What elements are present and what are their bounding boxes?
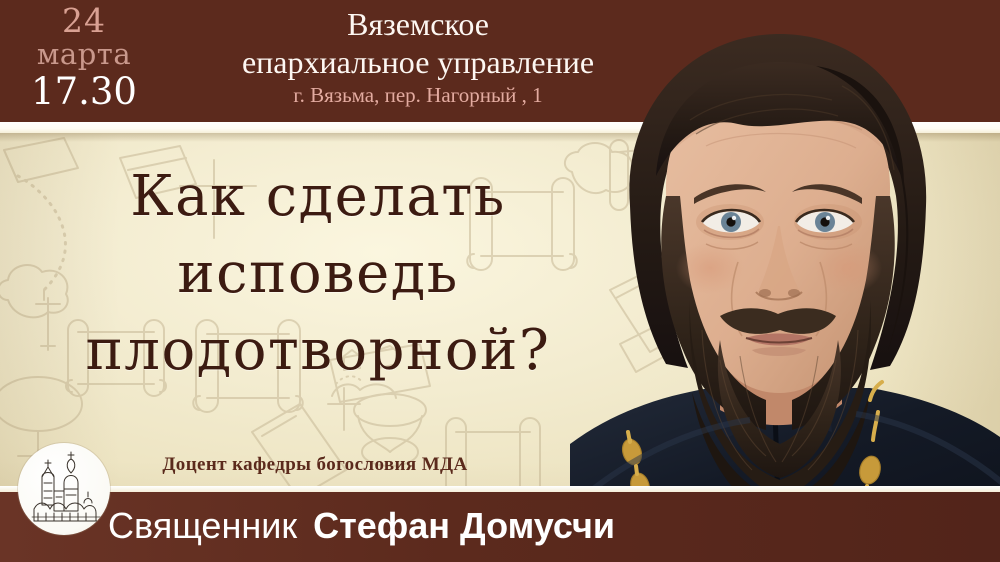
organization-address: г. Вязьма, пер. Нагорный , 1 (168, 82, 668, 109)
title-line-3: плодотворной? (38, 312, 598, 389)
organization-line-1: Вяземское (168, 4, 668, 44)
poster-root: 24 марта 17.30 Вяземское епархиальное уп… (0, 0, 1000, 562)
event-date-block: 24 марта 17.30 (0, 2, 168, 122)
speaker-name-block: СвященникСтефан Домусчи (108, 496, 728, 556)
speaker-credit: Доцент кафедры богословия МДА (100, 452, 530, 480)
title-line-2: исповедь (38, 235, 598, 312)
page-title: Как сделать исповедь плодотворной? (38, 158, 598, 389)
event-month: марта (37, 38, 131, 70)
organization-line-2: епархиальное управление (168, 44, 668, 81)
speaker-name: Стефан Домусчи (313, 505, 615, 546)
event-day: 24 (62, 4, 106, 38)
organization-block: Вяземское епархиальное управление г. Вяз… (168, 0, 668, 122)
event-time: 17.30 (31, 72, 137, 112)
speaker-role: Священник (108, 505, 297, 546)
title-line-1: Как сделать (38, 158, 598, 235)
cathedral-logo (18, 443, 110, 535)
